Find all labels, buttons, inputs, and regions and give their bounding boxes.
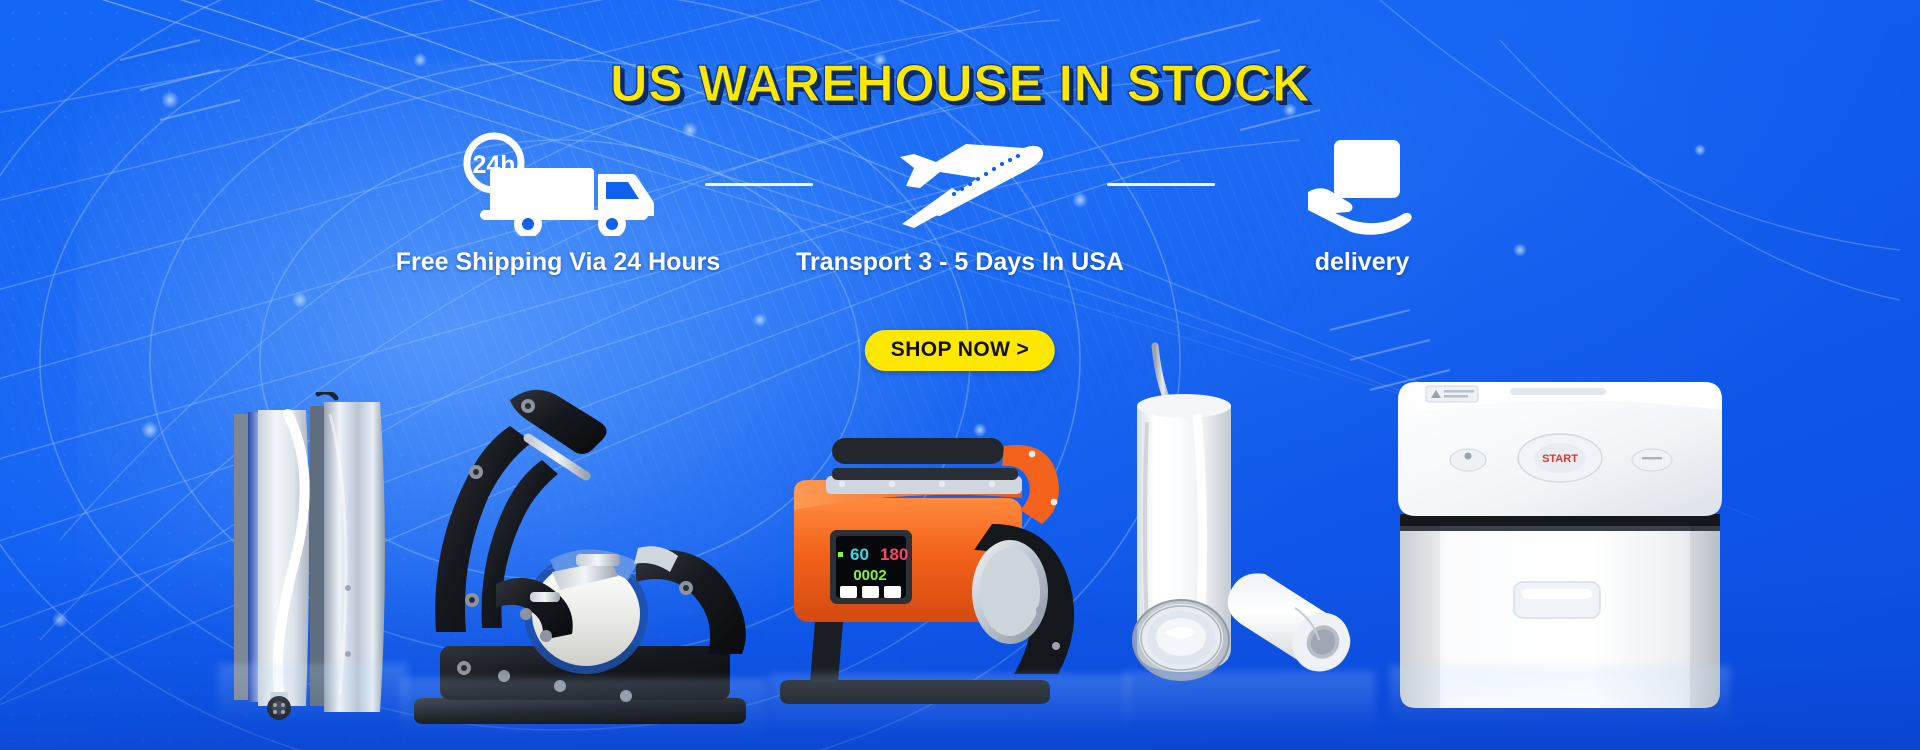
feature-delivery: delivery	[1197, 130, 1527, 277]
oven-front-latch	[1514, 582, 1600, 618]
display-temperature-value: 180	[880, 545, 908, 564]
product-showcase: 60 180 0002	[0, 330, 1920, 750]
product-oven-press[interactable]: START	[1390, 374, 1730, 724]
feature-delivery-caption: delivery	[1315, 248, 1410, 277]
display-button-menu	[840, 586, 857, 598]
product-tumblers[interactable]	[1125, 340, 1375, 730]
oven-left-button	[1450, 449, 1486, 471]
promo-banner: US WAREHOUSE IN STOCK	[0, 0, 1920, 750]
feature-shipping: 24h Free Shipping Via 24 Hours	[393, 130, 723, 277]
oven-start-button: START	[1518, 434, 1602, 482]
product-orange-press[interactable]: 60 180 0002	[770, 432, 1130, 732]
feature-row: 24h Free Shipping Via 24 Hours	[0, 130, 1920, 310]
oven-right-button	[1632, 449, 1672, 471]
display-timer-value: 60	[850, 545, 869, 564]
truck-badge-label: 24h	[472, 151, 515, 179]
oven-start-label: START	[1542, 453, 1578, 465]
display-counter-value: 0002	[853, 567, 886, 584]
airplane-icon	[874, 130, 1046, 238]
display-button-down	[884, 586, 901, 598]
feature-transport-caption: Transport 3 - 5 Days In USA	[796, 248, 1124, 277]
page-title: US WAREHOUSE IN STOCK	[0, 54, 1920, 114]
product-heating-pads[interactable]	[218, 392, 408, 722]
truck-24h-icon: 24h	[456, 130, 661, 238]
feature-transport: Transport 3 - 5 Days In USA	[795, 130, 1125, 277]
orange-press-display: 60 180 0002	[830, 530, 912, 604]
display-button-up	[862, 586, 879, 598]
product-mug-press[interactable]	[400, 346, 768, 736]
package-in-hand-icon	[1302, 130, 1422, 238]
feature-shipping-caption: Free Shipping Via 24 Hours	[396, 248, 721, 277]
